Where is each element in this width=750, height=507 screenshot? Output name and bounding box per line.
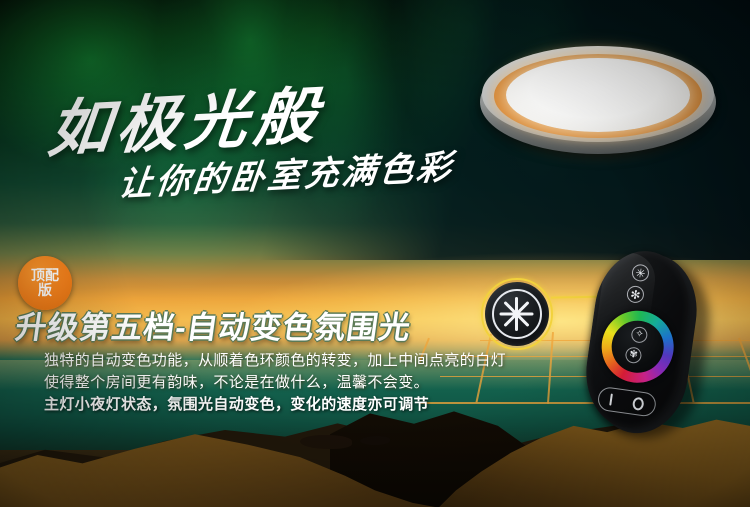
top-spec-badge-label: 顶配版: [28, 268, 62, 298]
power-on-icon: [609, 393, 613, 405]
flower-icon: ✾: [629, 350, 639, 361]
description-line-3: 主灯小夜灯状态，氛围光自动变色，变化的速度亦可调节: [44, 394, 564, 416]
feature-description: 独特的自动变色功能，从顺着色环颜色的转变，加上中间点亮的白灯 使得整个房间更有韵…: [44, 350, 564, 416]
diamond-icon: ✧: [634, 329, 644, 340]
power-off-icon: [632, 396, 645, 410]
lamp-diffuser: [506, 58, 690, 132]
ceiling-lamp-product: [480, 42, 716, 162]
promo-banner: 如极光般 让你的卧室充满色彩 顶配版 升级第五档-自动变色氛围光 独特的自动变色…: [0, 0, 750, 507]
description-line-2: 使得整个房间更有韵味，不论是在做什么，温馨不会变。: [44, 372, 564, 394]
sparkle-icon: ✳: [635, 266, 647, 279]
rock-foreground-left: [300, 435, 352, 449]
rock-foreground-right: [360, 436, 390, 445]
starburst-icon: [499, 296, 535, 332]
description-line-1: 独特的自动变色功能，从顺着色环颜色的转变，加上中间点亮的白灯: [44, 350, 564, 372]
feature-headline: 升级第五档-自动变色氛围光: [13, 302, 415, 347]
asterisk-icon: ✻: [630, 288, 642, 301]
remote-power-toggle[interactable]: [597, 386, 658, 418]
starburst-icon-badge: [481, 278, 553, 350]
